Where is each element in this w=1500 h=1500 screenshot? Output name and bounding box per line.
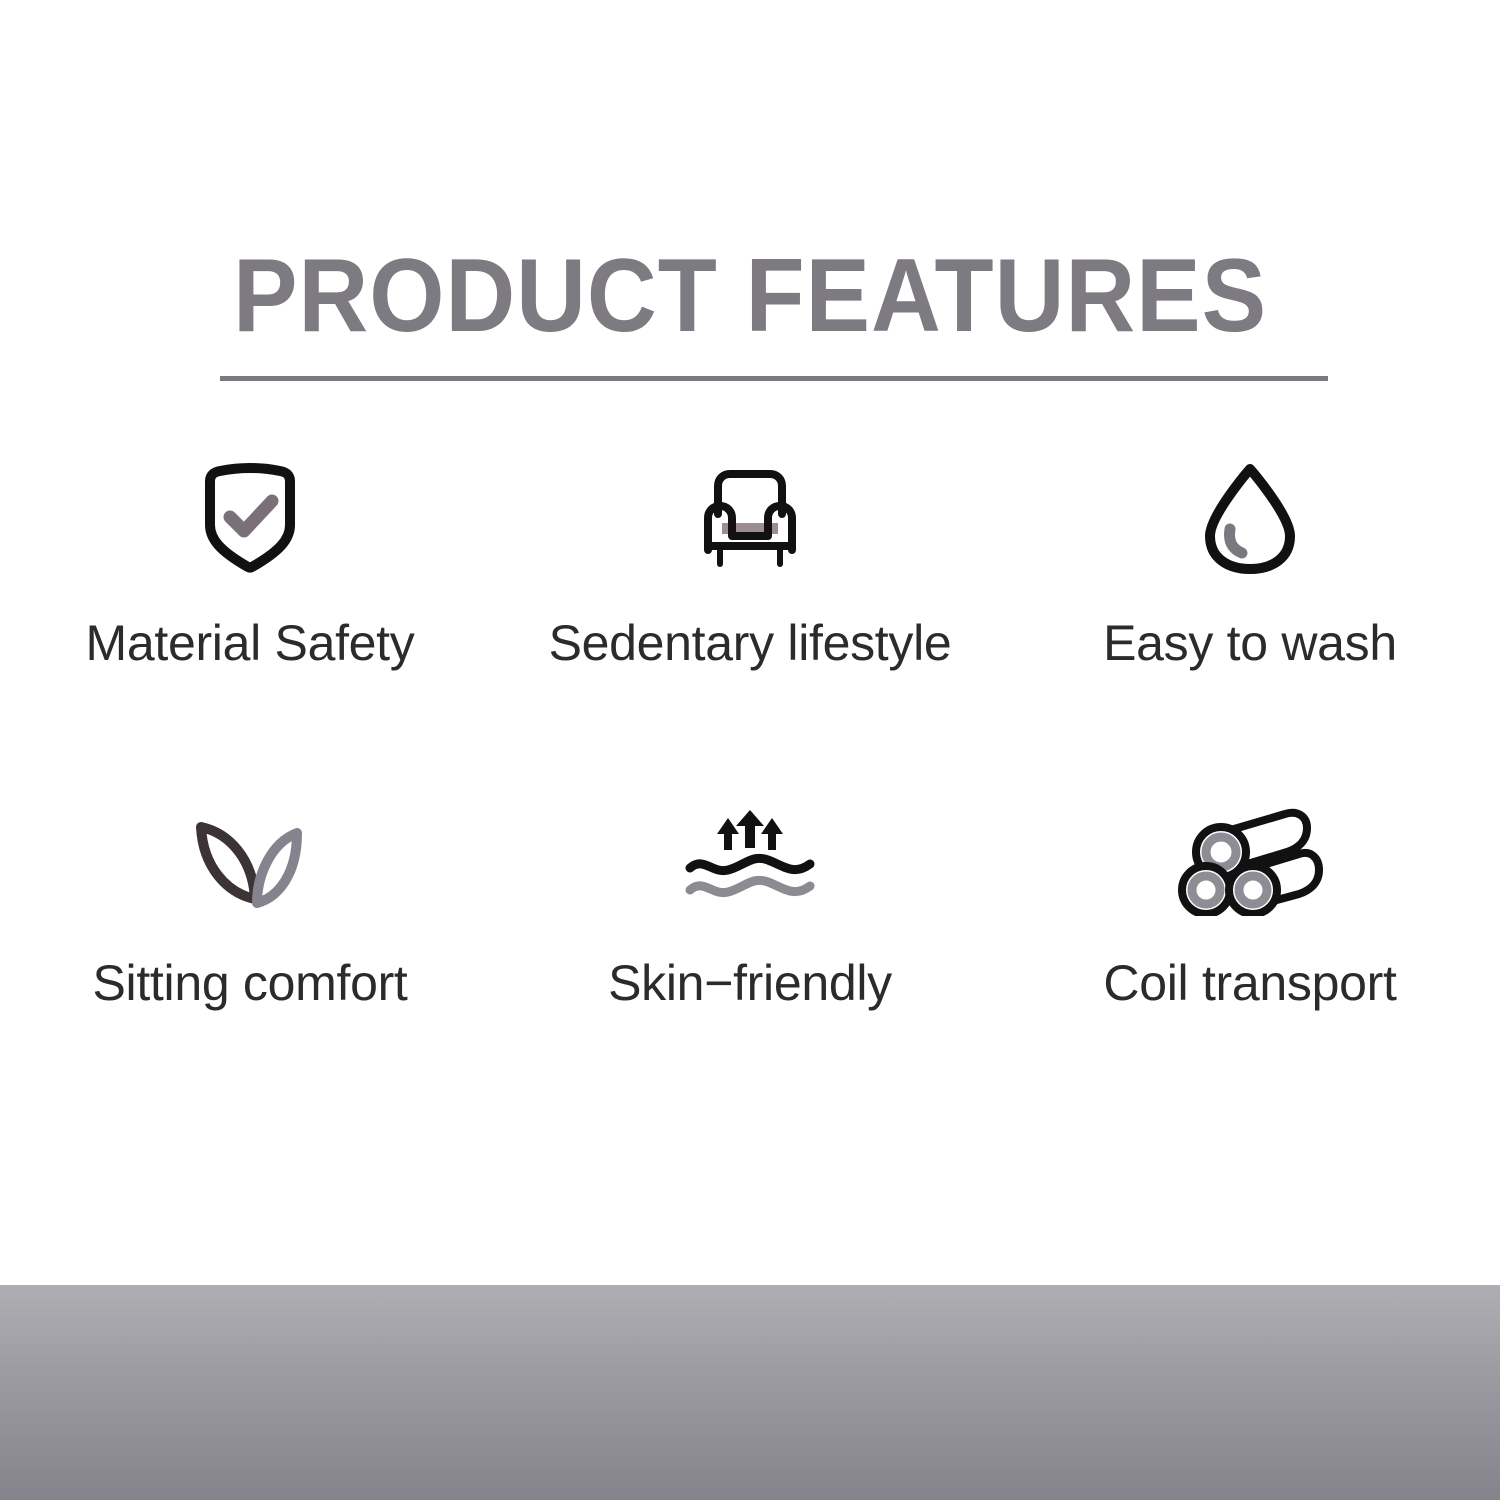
stacked-rolls-icon — [1177, 798, 1323, 918]
feature-label: Coil transport — [1103, 954, 1396, 1012]
product-features-poster: PRODUCT FEATURES Material Safety — [0, 0, 1500, 1500]
feature-item-coil-transport: Coil transport — [1000, 770, 1500, 1110]
breathable-waves-icon — [682, 798, 818, 918]
two-leaves-icon — [187, 798, 313, 918]
feature-item-skin-friendly: Skin−friendly — [500, 770, 1000, 1110]
title-divider — [220, 376, 1328, 381]
feature-grid: Material Safety Sedentary lifestyle — [0, 430, 1500, 1110]
bottom-gradient-band — [0, 1285, 1500, 1500]
shield-check-icon — [194, 458, 306, 578]
feature-item-sedentary-lifestyle: Sedentary lifestyle — [500, 430, 1000, 770]
poster-header: PRODUCT FEATURES — [0, 0, 1500, 400]
feature-label: Easy to wash — [1103, 614, 1397, 672]
feature-label: Sitting comfort — [92, 954, 407, 1012]
feature-label: Sedentary lifestyle — [549, 614, 952, 672]
feature-item-sitting-comfort: Sitting comfort — [0, 770, 500, 1110]
feature-label: Skin−friendly — [608, 954, 892, 1012]
feature-label: Material Safety — [86, 614, 415, 672]
feature-item-easy-to-wash: Easy to wash — [1000, 430, 1500, 770]
feature-item-material-safety: Material Safety — [0, 430, 500, 770]
page-title: PRODUCT FEATURES — [53, 244, 1448, 348]
water-drop-icon — [1202, 458, 1298, 578]
armchair-icon — [688, 458, 812, 578]
